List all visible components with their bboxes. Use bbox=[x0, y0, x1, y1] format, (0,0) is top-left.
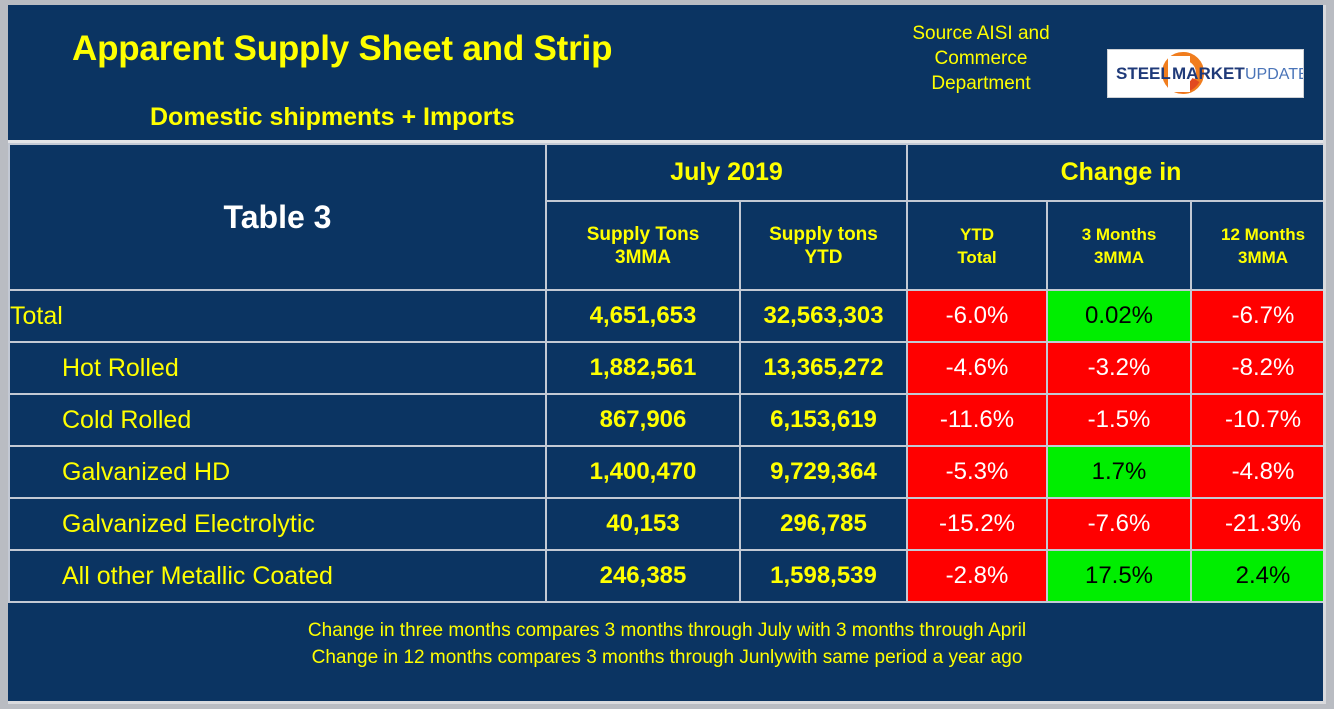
row-label: Cold Rolled bbox=[9, 394, 546, 446]
row-label: All other Metallic Coated bbox=[9, 550, 546, 602]
cell-supply-tons-ytd: 6,153,619 bbox=[740, 394, 907, 446]
row-label: Total bbox=[9, 290, 546, 342]
cell-12-months-3mma: 2.4% bbox=[1191, 550, 1326, 602]
col-header-3-months-3mma: 3 Months 3MMA bbox=[1047, 201, 1191, 290]
row-label: Galvanized Electrolytic bbox=[9, 498, 546, 550]
col-header-3-months-line2: 3MMA bbox=[1048, 246, 1190, 269]
table-row: Cold Rolled867,9066,153,619-11.6%-1.5%-1… bbox=[9, 394, 1326, 446]
cell-supply-tons-3mma: 1,400,470 bbox=[546, 446, 740, 498]
footnote-line-2: Change in 12 months compares 3 months th… bbox=[8, 644, 1326, 671]
cell-supply-tons-ytd: 1,598,539 bbox=[740, 550, 907, 602]
cell-ytd-total: -2.8% bbox=[907, 550, 1047, 602]
table-head: Table 3 July 2019 Change in Supply Tons … bbox=[9, 144, 1326, 290]
cell-ytd-total: -15.2% bbox=[907, 498, 1047, 550]
footnotes: Change in three months compares 3 months… bbox=[8, 617, 1326, 671]
cell-ytd-total: -5.3% bbox=[907, 446, 1047, 498]
page-subtitle: Domestic shipments + Imports bbox=[150, 103, 515, 132]
cell-ytd-total: -11.6% bbox=[907, 394, 1047, 446]
table-row: Total4,651,65332,563,303-6.0%0.02%-6.7% bbox=[9, 290, 1326, 342]
col-header-12-months-3mma: 12 Months 3MMA bbox=[1191, 201, 1326, 290]
col-header-3-months-line1: 3 Months bbox=[1048, 223, 1190, 246]
col-header-supply-tons-ytd: Supply tons YTD bbox=[740, 201, 907, 290]
cell-12-months-3mma: -21.3% bbox=[1191, 498, 1326, 550]
cell-12-months-3mma: -8.2% bbox=[1191, 342, 1326, 394]
header-band: Apparent Supply Sheet and Strip Domestic… bbox=[8, 5, 1326, 140]
svg-text:STEEL: STEEL bbox=[1116, 64, 1171, 83]
supply-table: Table 3 July 2019 Change in Supply Tons … bbox=[8, 143, 1326, 603]
cell-supply-tons-3mma: 867,906 bbox=[546, 394, 740, 446]
col-header-ytd-total-line1: YTD bbox=[908, 223, 1046, 246]
col-header-supply-tons-ytd-line1: Supply tons bbox=[741, 223, 906, 246]
cell-3-months-3mma: -1.5% bbox=[1047, 394, 1191, 446]
page-title: Apparent Supply Sheet and Strip bbox=[72, 29, 612, 69]
cell-12-months-3mma: -4.8% bbox=[1191, 446, 1326, 498]
source-note: Source AISI and Commerce Department bbox=[898, 21, 1064, 96]
logo-icon: STEEL MARKET UPDATE bbox=[1108, 50, 1303, 97]
cell-supply-tons-3mma: 4,651,653 bbox=[546, 290, 740, 342]
cell-3-months-3mma: 0.02% bbox=[1047, 290, 1191, 342]
col-header-supply-tons-3mma: Supply Tons 3MMA bbox=[546, 201, 740, 290]
cell-3-months-3mma: 17.5% bbox=[1047, 550, 1191, 602]
cell-12-months-3mma: -6.7% bbox=[1191, 290, 1326, 342]
cell-ytd-total: -4.6% bbox=[907, 342, 1047, 394]
table-row: Galvanized Electrolytic40,153296,785-15.… bbox=[9, 498, 1326, 550]
cell-ytd-total: -6.0% bbox=[907, 290, 1047, 342]
cell-supply-tons-ytd: 296,785 bbox=[740, 498, 907, 550]
col-header-ytd-total-line2: Total bbox=[908, 246, 1046, 269]
cell-12-months-3mma: -10.7% bbox=[1191, 394, 1326, 446]
table-corner-title: Table 3 bbox=[9, 144, 546, 290]
table-body: Total4,651,65332,563,303-6.0%0.02%-6.7%H… bbox=[9, 290, 1326, 602]
row-label: Galvanized HD bbox=[9, 446, 546, 498]
steel-market-update-logo: STEEL MARKET UPDATE bbox=[1107, 49, 1304, 98]
cell-supply-tons-3mma: 1,882,561 bbox=[546, 342, 740, 394]
cell-supply-tons-ytd: 9,729,364 bbox=[740, 446, 907, 498]
slide-canvas: Apparent Supply Sheet and Strip Domestic… bbox=[8, 5, 1326, 704]
cell-3-months-3mma: -3.2% bbox=[1047, 342, 1191, 394]
cell-3-months-3mma: 1.7% bbox=[1047, 446, 1191, 498]
table-row: Galvanized HD1,400,4709,729,364-5.3%1.7%… bbox=[9, 446, 1326, 498]
col-header-ytd-total: YTD Total bbox=[907, 201, 1047, 290]
table-row: All other Metallic Coated246,3851,598,53… bbox=[9, 550, 1326, 602]
group-header-change-in: Change in bbox=[907, 144, 1326, 201]
row-label: Hot Rolled bbox=[9, 342, 546, 394]
col-header-12-months-line2: 3MMA bbox=[1192, 246, 1326, 269]
cell-3-months-3mma: -7.6% bbox=[1047, 498, 1191, 550]
cell-supply-tons-ytd: 32,563,303 bbox=[740, 290, 907, 342]
col-header-supply-tons-3mma-line1: Supply Tons bbox=[547, 223, 739, 246]
col-header-supply-tons-ytd-line2: YTD bbox=[741, 246, 906, 269]
table-row: Hot Rolled1,882,56113,365,272-4.6%-3.2%-… bbox=[9, 342, 1326, 394]
cell-supply-tons-ytd: 13,365,272 bbox=[740, 342, 907, 394]
group-header-july-2019: July 2019 bbox=[546, 144, 907, 201]
col-header-12-months-line1: 12 Months bbox=[1192, 223, 1326, 246]
col-header-supply-tons-3mma-line2: 3MMA bbox=[547, 246, 739, 269]
table-header-group-row: Table 3 July 2019 Change in bbox=[9, 144, 1326, 201]
title-block: Apparent Supply Sheet and Strip Domestic… bbox=[8, 5, 888, 140]
footnote-line-1: Change in three months compares 3 months… bbox=[8, 617, 1326, 644]
svg-text:UPDATE: UPDATE bbox=[1245, 66, 1303, 83]
cell-supply-tons-3mma: 246,385 bbox=[546, 550, 740, 602]
cell-supply-tons-3mma: 40,153 bbox=[546, 498, 740, 550]
svg-text:MARKET: MARKET bbox=[1172, 64, 1245, 83]
